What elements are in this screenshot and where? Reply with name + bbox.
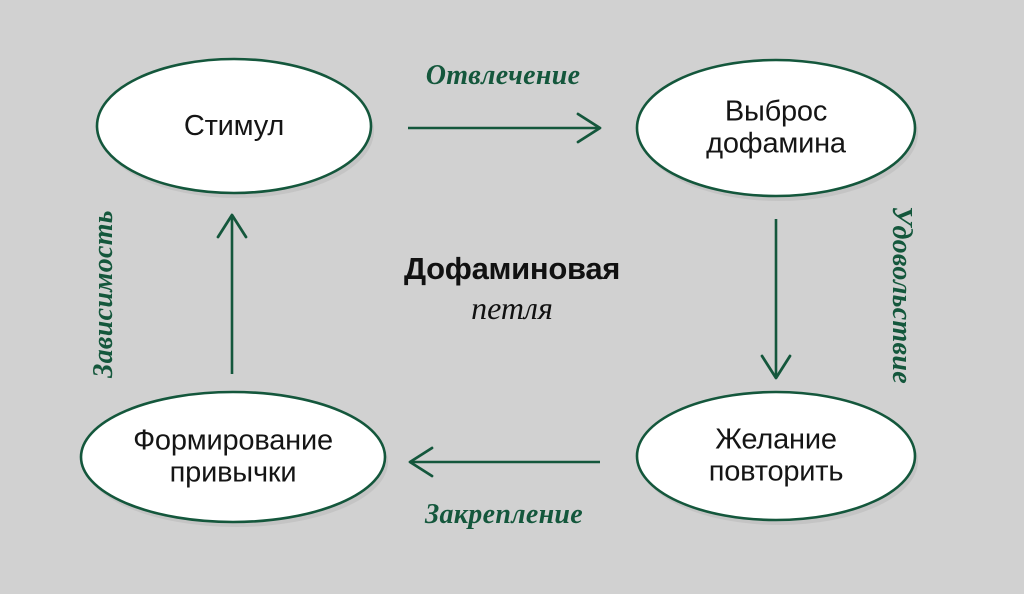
arrow-desire-to-habit	[410, 448, 600, 476]
node-ellipse-desire-to-repeat[interactable]	[637, 392, 915, 520]
arrow-dopamine-to-desire	[762, 219, 790, 378]
arrow-habit-to-stimul	[218, 215, 246, 374]
node-ellipse-habit-formation[interactable]	[81, 392, 385, 522]
diagram-title: Дофаминовая петля	[302, 252, 722, 328]
edge-label-zavisimost: Зависимость	[88, 210, 120, 378]
edge-label-zakreplenie: Закрепление	[425, 499, 583, 531]
edge-label-udovolstvie: Удовольствие	[885, 206, 917, 384]
diagram-canvas: Стимул Выброс дофамина Желание повторить…	[0, 0, 1024, 594]
diagram-title-line2: петля	[302, 288, 722, 328]
node-ellipse-stimul[interactable]	[97, 59, 371, 193]
edge-label-otvlechenie: Отвлечение	[426, 60, 581, 92]
diagram-title-line1: Дофаминовая	[302, 252, 722, 286]
node-ellipse-dopamine-release[interactable]	[637, 60, 915, 196]
arrow-stimul-to-dopamine	[408, 114, 600, 142]
